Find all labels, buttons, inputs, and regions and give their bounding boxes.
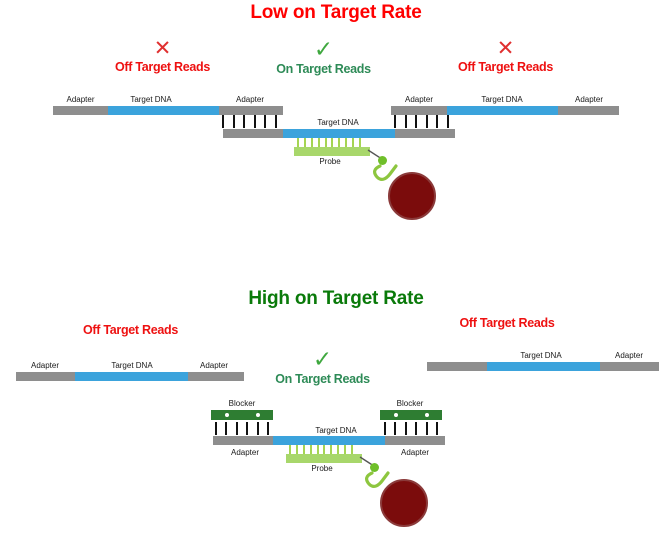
biotin-tag-icon [378, 156, 387, 165]
biotin-tag-icon [370, 463, 379, 472]
streptavidin-bead [388, 172, 436, 220]
biotin-streptavidin-linker [0, 270, 672, 538]
panel-high-on-target-rate: Off Target Reads ✓ On Target Reads Off T… [0, 270, 672, 538]
panel-low-on-target-rate: ✕ Off Target Reads ✓ On Target Reads ✕ O… [0, 0, 672, 270]
biotin-streptavidin-linker [0, 0, 672, 270]
streptavidin-bead [380, 479, 428, 527]
